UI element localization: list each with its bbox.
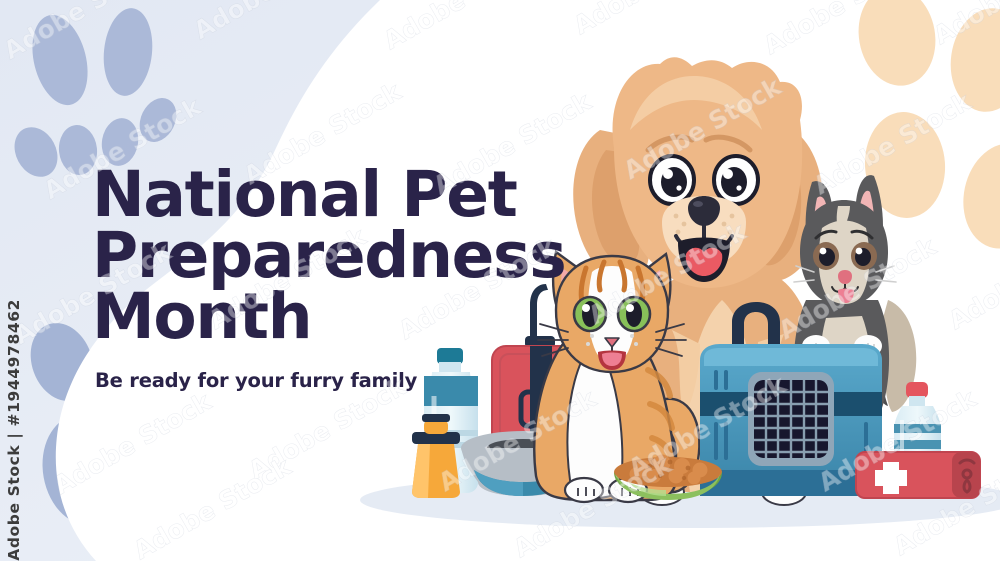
text-block: National Pet Preparedness Month Be ready… (92, 164, 562, 392)
poster-canvas: National Pet Preparedness Month Be ready… (0, 0, 1000, 561)
adobe-stock-id-watermark: Adobe Stock | #1944978462 (0, 0, 29, 561)
rabbit-nose (838, 270, 852, 284)
page-title: National Pet Preparedness Month (92, 164, 562, 347)
adobe-stock-id-text: Adobe Stock | #1944978462 (5, 291, 23, 561)
first-aid-kit (856, 452, 980, 498)
page-subtitle: Be ready for your furry family (95, 369, 562, 392)
